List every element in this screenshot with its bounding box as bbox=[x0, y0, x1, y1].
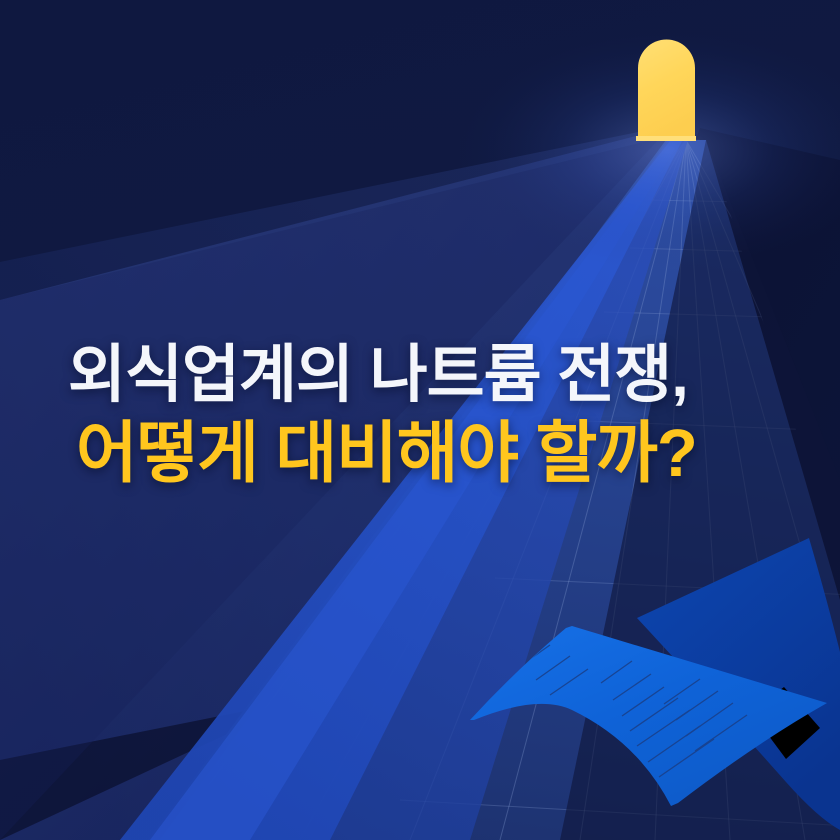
promo-card: 외식업계의 나트륨 전쟁, 어떻게 대비해야 할까? bbox=[0, 0, 840, 840]
documents-layer bbox=[0, 0, 840, 840]
